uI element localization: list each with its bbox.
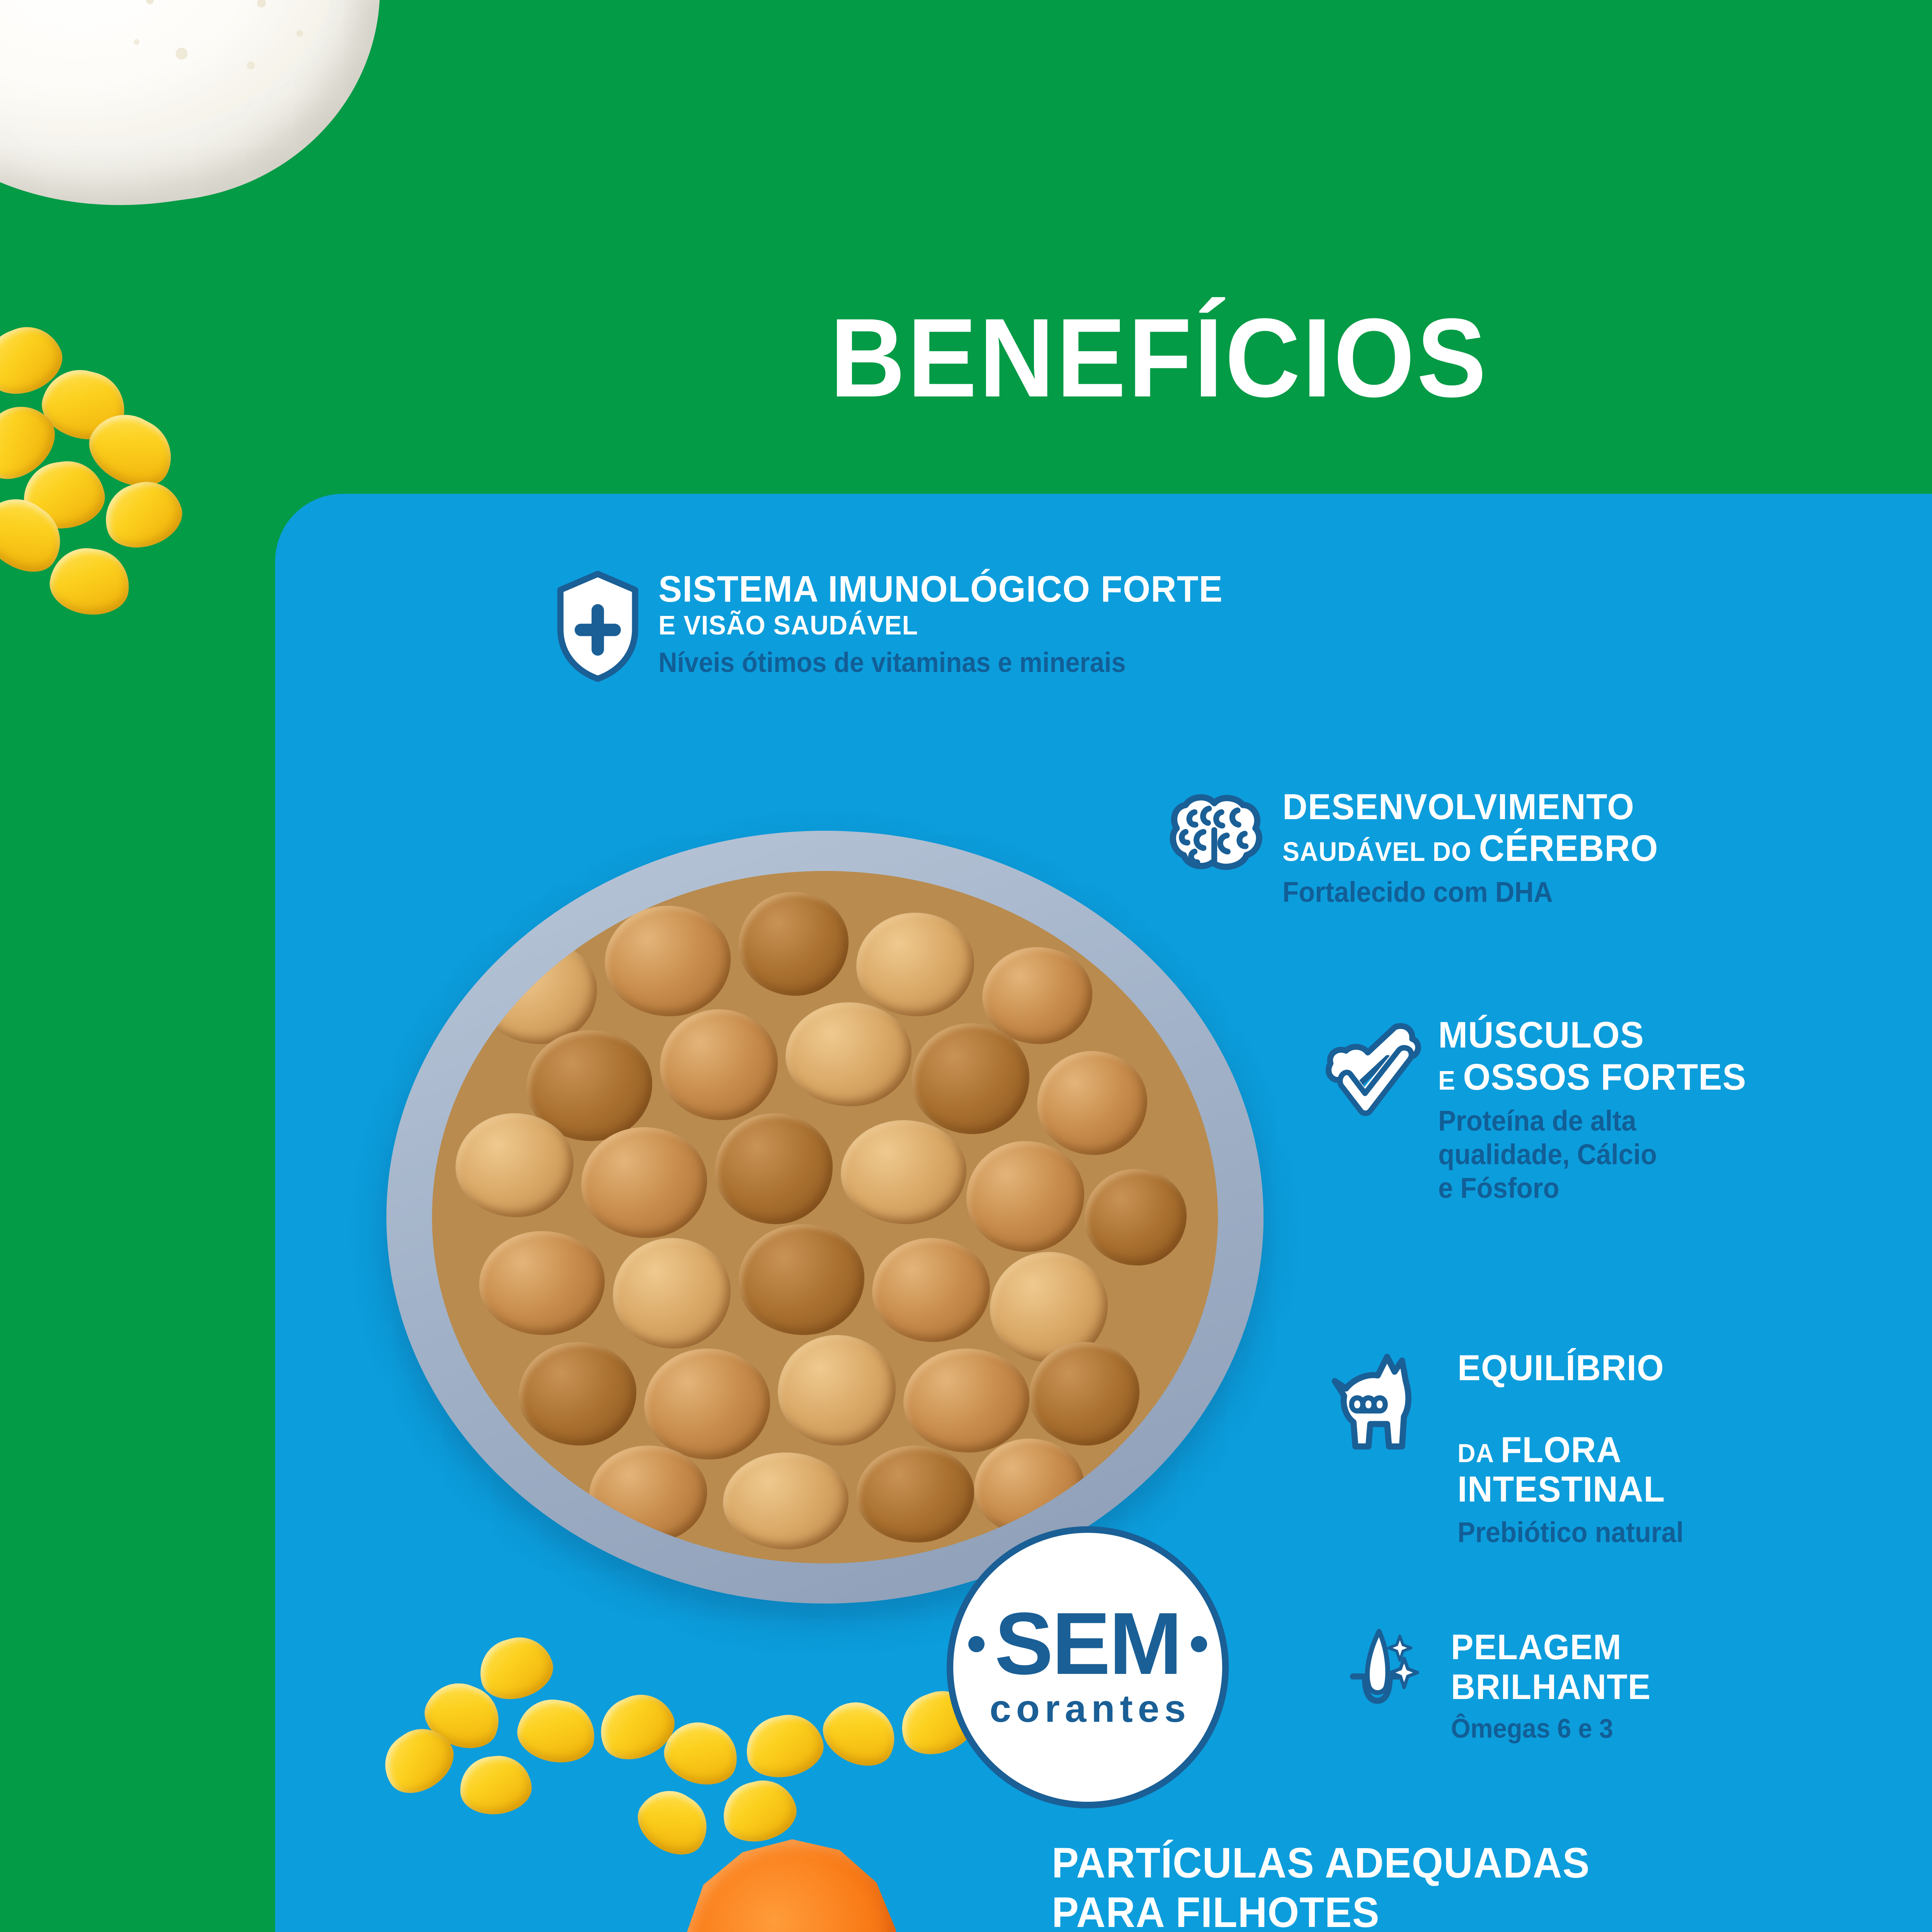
badge-dot-left [968, 1636, 985, 1652]
benefit-brain-sub-large: CÉREBRO [1479, 828, 1658, 869]
benefit-flora-subheading: DA FLORA INTESTINAL [1458, 1391, 1689, 1509]
benefit-immune-description: Níveis ótimos de vitaminas e minerais [658, 646, 1211, 679]
badge-main-label: SEM [995, 1604, 1181, 1685]
benefit-bones-text: MÚSCULOS E OSSOS FORTES Proteína de alta… [1438, 1016, 1763, 1205]
hair-shine-icon [1348, 1628, 1435, 1713]
shield-plus-icon [553, 570, 642, 684]
benefit-immune-subheading: E VISÃO SAUDÁVEL [658, 611, 1223, 640]
page-title: BENEFÍCIOS [81, 294, 1932, 422]
dog-intestine-icon [1329, 1349, 1441, 1463]
kibble-bowl-photo [386, 831, 1264, 1604]
benefit-brain-heading: DESENVOLVIMENTO [1282, 788, 1658, 825]
benefit-kibble-heading: PARTÍCULAS ADEQUADAS PARA FILHOTES [1052, 1838, 1590, 1932]
benefit-flora-heading: EQUILÍBRIO [1458, 1349, 1689, 1386]
benefit-immune-text: SISTEMA IMUNOLÓGICO FORTE E VISÃO SAUDÁV… [658, 570, 1253, 679]
benefit-bones-description: Proteína de alta qualidade, Cálcio e Fós… [1438, 1104, 1740, 1205]
benefit-brain-text: DESENVOLVIMENTO SAUDÁVEL DO CÉREBRO Fort… [1282, 788, 1678, 909]
benefit-coat-heading: PELAGEM BRILHANTE [1451, 1628, 1651, 1707]
benefit-bones: MÚSCULOS E OSSOS FORTES Proteína de alta… [1325, 1016, 1763, 1205]
bowl-interior [432, 871, 1218, 1563]
bone-check-icon [1325, 1016, 1422, 1122]
benefit-coat: PELAGEM BRILHANTE Ômegas 6 e 3 [1348, 1628, 1662, 1745]
benefit-immune-heading: SISTEMA IMUNOLÓGICO FORTE [658, 570, 1223, 608]
benefit-brain-subheading: SAUDÁVEL DO CÉREBRO [1282, 829, 1658, 868]
badge-sub-label: corantes [985, 1687, 1191, 1731]
benefit-flora-sub-small: DA [1458, 1439, 1501, 1468]
benefit-flora: EQUILÍBRIO DA FLORA INTESTINAL Prebiótic… [1329, 1349, 1701, 1549]
milk-bowl-photo [0, 0, 407, 238]
badge-main-text: SEM [958, 1604, 1217, 1685]
benefit-brain-description: Fortalecido com DHA [1282, 875, 1650, 909]
benefit-kibble: PARTÍCULAS ADEQUADAS PARA FILHOTES Delic… [1052, 1838, 1618, 1932]
benefit-flora-description: Prebiótico natural [1458, 1515, 1684, 1549]
badge-dot-right [1191, 1636, 1207, 1652]
benefit-bones-subheading: E OSSOS FORTES [1438, 1058, 1747, 1097]
benefit-bones-heading: MÚSCULOS [1438, 1016, 1747, 1054]
benefit-coat-description: Ômegas 6 e 3 [1451, 1713, 1647, 1745]
benefit-brain-sub-small: SAUDÁVEL DO [1282, 837, 1479, 867]
benefit-kibble-text: PARTÍCULAS ADEQUADAS PARA FILHOTES Delic… [1052, 1838, 1618, 1932]
benefit-immune: SISTEMA IMUNOLÓGICO FORTE E VISÃO SAUDÁV… [553, 570, 1253, 684]
benefit-flora-text: EQUILÍBRIO DA FLORA INTESTINAL Prebiótic… [1458, 1349, 1701, 1549]
benefit-coat-text: PELAGEM BRILHANTE Ômegas 6 e 3 [1451, 1628, 1662, 1745]
sem-corantes-badge: SEM corantes [947, 1526, 1229, 1808]
benefit-bones-sub-large: OSSOS FORTES [1463, 1056, 1746, 1098]
benefit-bones-sub-small: E [1438, 1065, 1463, 1095]
